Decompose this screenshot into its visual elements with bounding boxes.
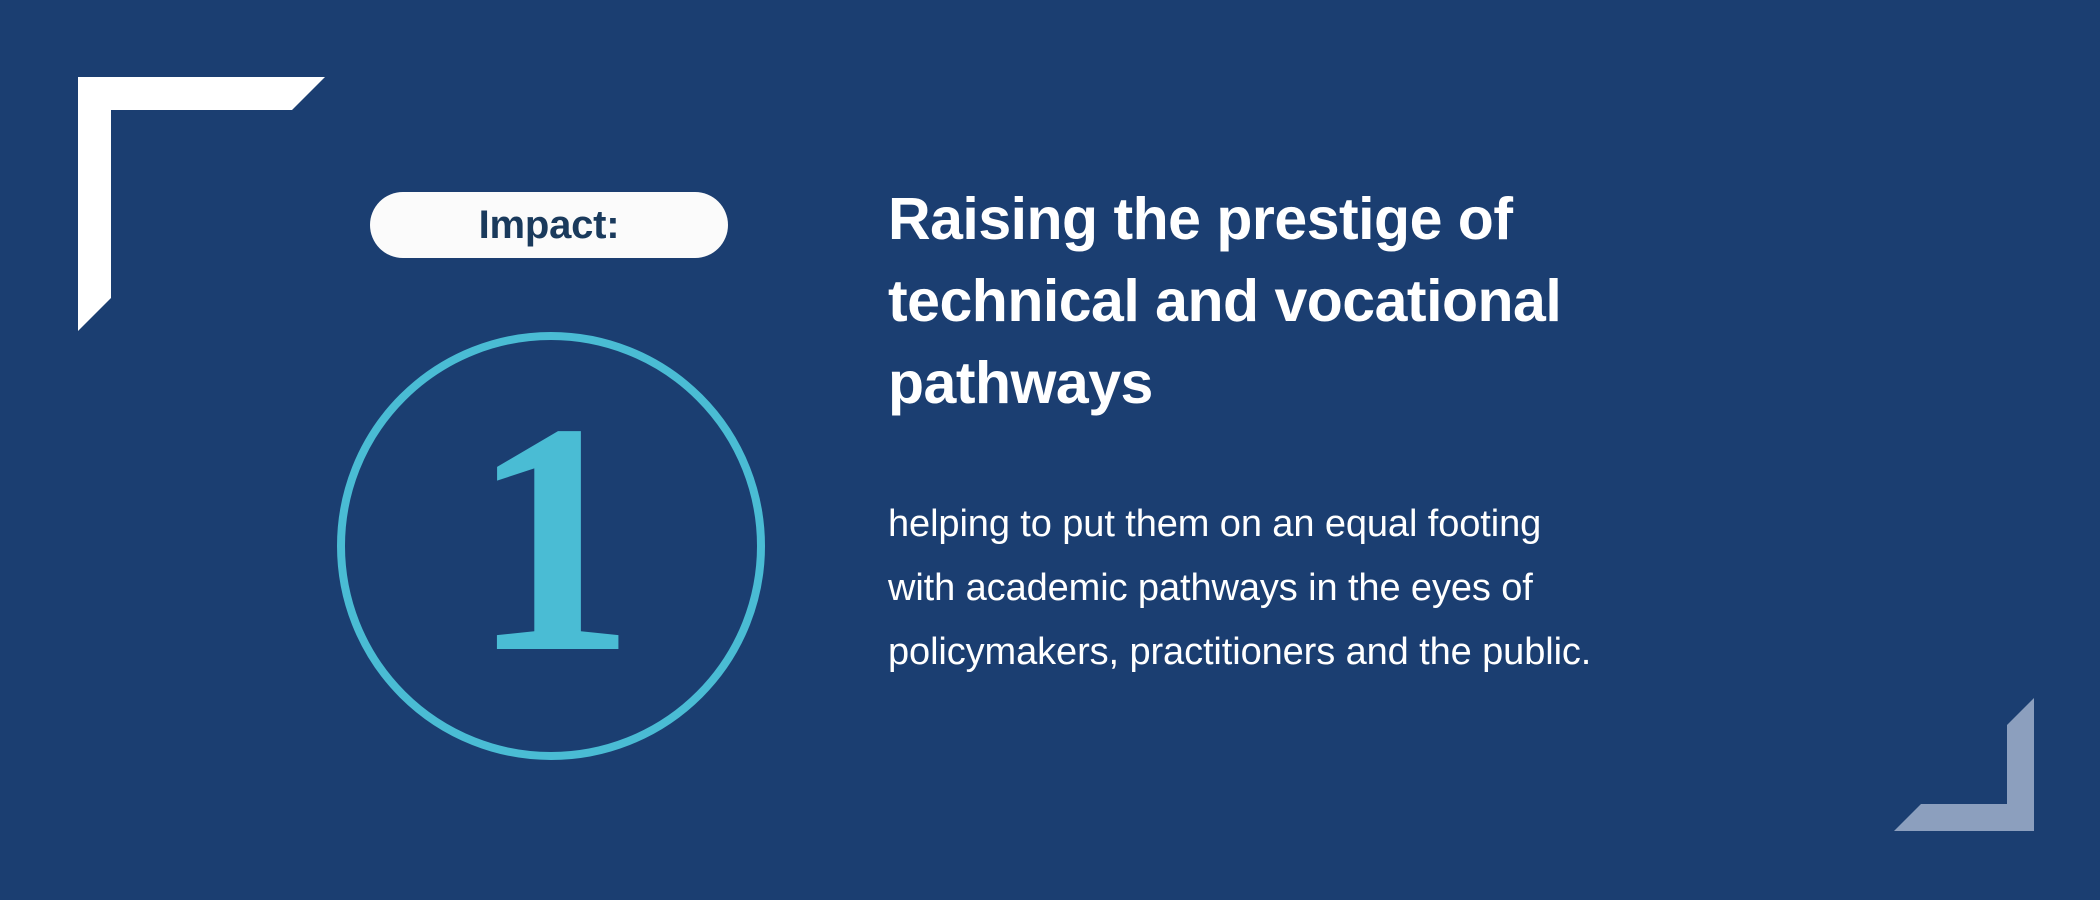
- impact-heading-line: pathways: [888, 342, 1828, 424]
- corner-bracket-top-left-icon: [60, 60, 330, 350]
- impact-text-column: Raising the prestige of technical and vo…: [888, 178, 1828, 684]
- impact-heading-line: technical and vocational: [888, 260, 1828, 342]
- impact-body-text: helping to put them on an equal footing …: [888, 492, 1828, 684]
- impact-badge: Impact:: [370, 192, 728, 258]
- impact-number-circle: 1: [337, 332, 765, 760]
- impact-marker-column: Impact: 1: [337, 192, 777, 760]
- impact-number-value: 1: [337, 332, 765, 760]
- impact-body-line: policymakers, practitioners and the publ…: [888, 620, 1828, 684]
- impact-slide: Impact: 1 Raising the prestige of techni…: [0, 0, 2100, 900]
- impact-body-line: helping to put them on an equal footing: [888, 492, 1828, 556]
- impact-badge-label: Impact:: [479, 205, 620, 245]
- impact-heading: Raising the prestige of technical and vo…: [888, 178, 1828, 424]
- corner-bracket-bottom-right-icon: [1882, 698, 2042, 848]
- impact-heading-line: Raising the prestige of: [888, 178, 1828, 260]
- impact-body-line: with academic pathways in the eyes of: [888, 556, 1828, 620]
